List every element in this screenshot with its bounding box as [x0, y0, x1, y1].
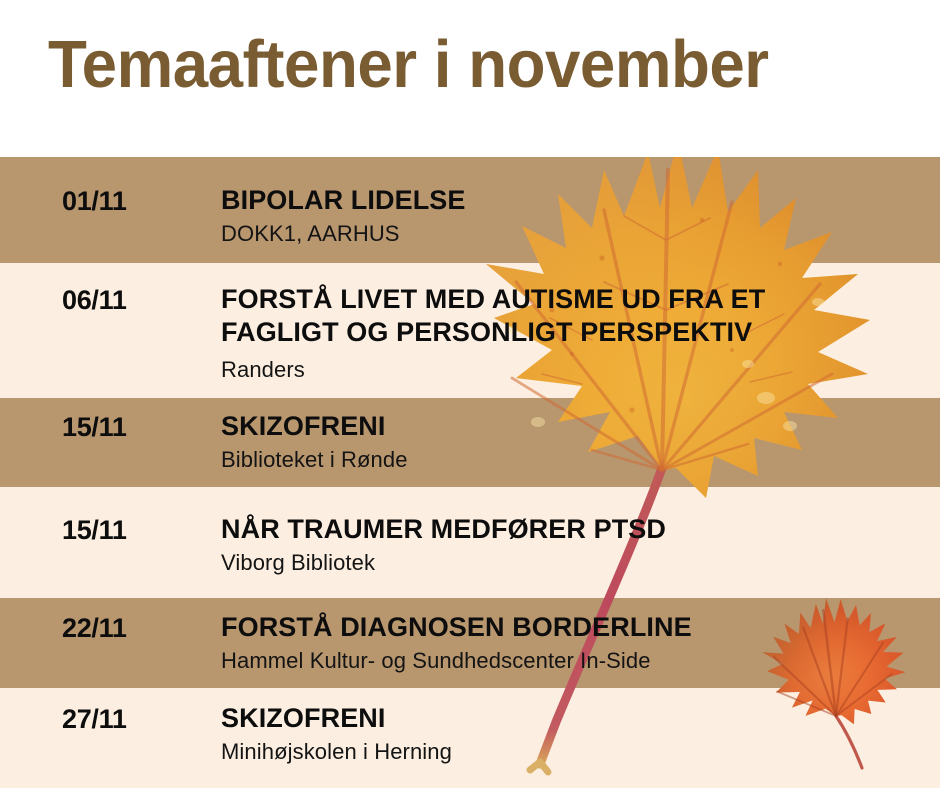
event-date: 27/11: [62, 704, 127, 735]
event-venue: Minihøjskolen i Herning: [221, 738, 931, 766]
event-body: SKIZOFRENI Minihøjskolen i Herning: [221, 702, 931, 765]
event-date: 01/11: [62, 186, 127, 217]
event-venue: Biblioteket i Rønde: [221, 446, 931, 474]
event-venue: Randers: [221, 356, 931, 384]
event-body: FORSTÅ DIAGNOSEN BORDERLINE Hammel Kultu…: [221, 611, 931, 674]
event-row-1[interactable]: 01/11 BIPOLAR LIDELSE DOKK1, AARHUS: [0, 157, 940, 263]
event-date: 15/11: [62, 412, 127, 443]
event-title: NÅR TRAUMER MEDFØRER PTSD: [221, 513, 931, 546]
event-title: SKIZOFRENI: [221, 410, 931, 443]
event-date: 22/11: [62, 613, 127, 644]
event-title: SKIZOFRENI: [221, 702, 931, 735]
event-venue: DOKK1, AARHUS: [221, 220, 931, 248]
event-body: FORSTÅ LIVET MED AUTISME UD FRA ET FAGLI…: [221, 283, 931, 384]
event-title: FORSTÅ LIVET MED AUTISME UD FRA ET FAGLI…: [221, 283, 821, 348]
event-row-6[interactable]: 27/11 SKIZOFRENI Minihøjskolen i Herning: [0, 688, 940, 788]
event-date: 06/11: [62, 285, 127, 316]
page-title: Temaaftener i november: [48, 26, 769, 103]
event-row-2[interactable]: 06/11 FORSTÅ LIVET MED AUTISME UD FRA ET…: [0, 263, 940, 398]
event-title: FORSTÅ DIAGNOSEN BORDERLINE: [221, 611, 931, 644]
event-body: SKIZOFRENI Biblioteket i Rønde: [221, 410, 931, 473]
event-venue: Hammel Kultur- og Sundhedscenter In-Side: [221, 647, 931, 675]
event-date: 15/11: [62, 515, 127, 546]
event-row-3[interactable]: 15/11 SKIZOFRENI Biblioteket i Rønde: [0, 398, 940, 487]
header-bar: Temaaftener i november: [0, 0, 940, 157]
event-row-4[interactable]: 15/11 NÅR TRAUMER MEDFØRER PTSD Viborg B…: [0, 487, 940, 598]
event-venue: Viborg Bibliotek: [221, 549, 931, 577]
event-body: BIPOLAR LIDELSE DOKK1, AARHUS: [221, 184, 931, 247]
event-row-5[interactable]: 22/11 FORSTÅ DIAGNOSEN BORDERLINE Hammel…: [0, 598, 940, 688]
event-body: NÅR TRAUMER MEDFØRER PTSD Viborg Bibliot…: [221, 513, 931, 576]
event-title: BIPOLAR LIDELSE: [221, 184, 931, 217]
poster-canvas: Temaaftener i november 01/11 BIPOLAR LID…: [0, 0, 940, 788]
